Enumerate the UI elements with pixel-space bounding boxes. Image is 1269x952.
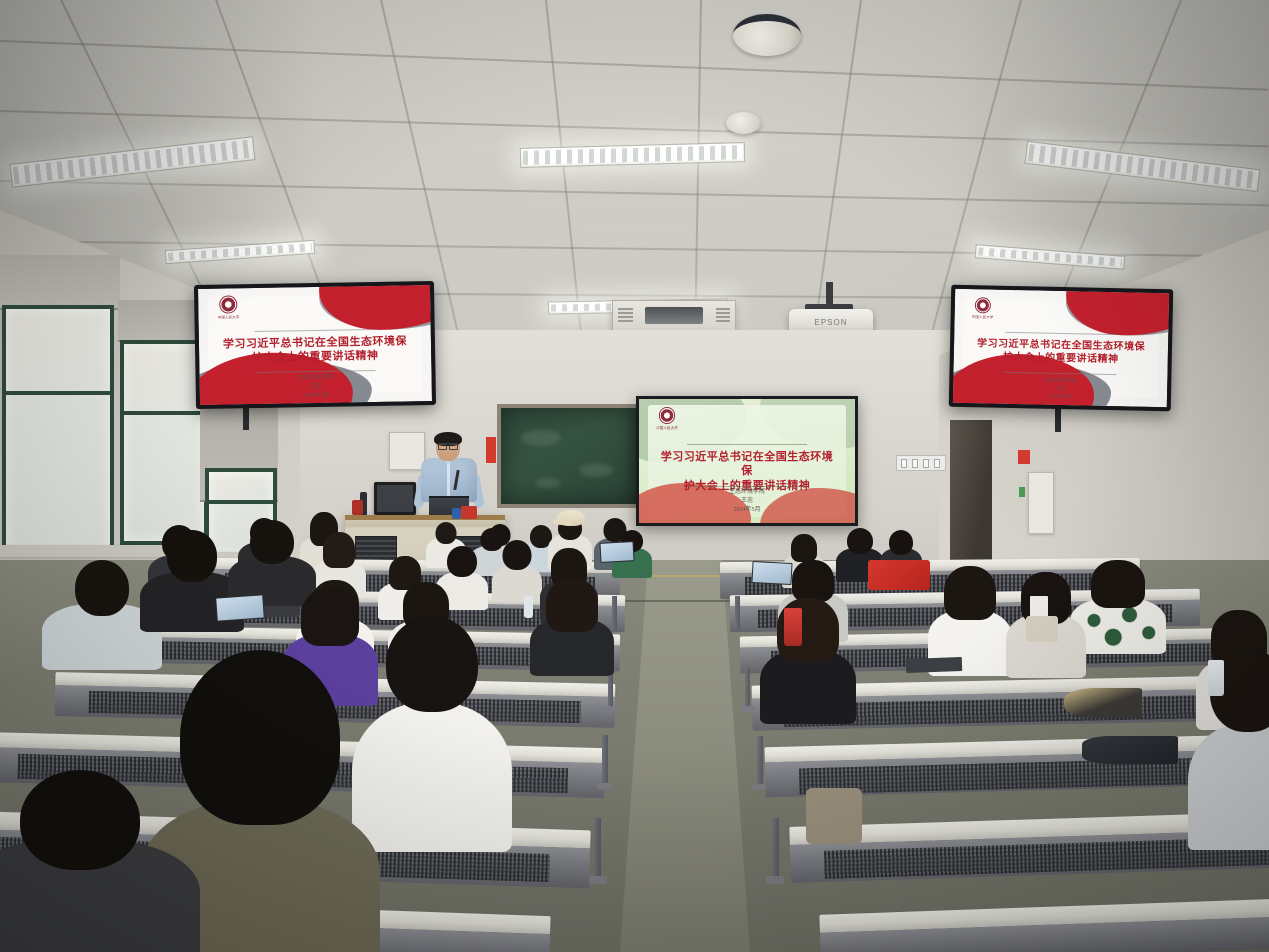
laptop[interactable] <box>751 561 792 585</box>
university-emblem-icon <box>974 297 991 314</box>
aisle-step-edge <box>620 600 740 602</box>
student-seat <box>530 578 614 674</box>
projection-slide: 中国人民大学 学习习近平总书记在全国生态环境保 护大会上的重要讲话精神 生态环境… <box>639 399 855 523</box>
red-thermos[interactable] <box>784 608 802 646</box>
desk-leg <box>735 596 740 630</box>
backpack <box>806 788 862 844</box>
university-emblem-icon <box>219 296 237 314</box>
laptop-sleeve <box>1064 688 1142 718</box>
university-name-label: 中国人民大学 <box>656 425 678 430</box>
red-jacket <box>868 560 930 590</box>
laptop[interactable] <box>215 594 265 621</box>
desk-foot <box>589 876 607 884</box>
university-logo: 中国人民大学 <box>210 295 248 321</box>
laptop[interactable] <box>599 541 634 563</box>
university-logo: 中国人民大学 <box>965 296 1000 322</box>
paper-cup[interactable] <box>1030 596 1048 618</box>
window-left-1 <box>2 305 114 555</box>
wall-sign-left <box>486 437 496 463</box>
slide-sub-line1: 生态环境学院 <box>639 488 855 497</box>
desk-foot <box>597 783 611 789</box>
laptop[interactable] <box>906 657 962 673</box>
projection-screen: 中国人民大学 学习习近平总书记在全国生态环境保 护大会上的重要讲话精神 生态环境… <box>636 396 858 526</box>
desk-foot <box>766 876 784 884</box>
podium-blue-box <box>452 508 461 519</box>
laptop-sleeve <box>1082 736 1178 764</box>
desk-leg <box>772 818 779 880</box>
student-foreground-far-left <box>0 770 200 952</box>
wall-notice-board <box>1028 472 1054 534</box>
exit-sign <box>1019 487 1025 497</box>
desk-marker-cup <box>352 500 363 515</box>
desk-foot <box>604 706 618 712</box>
fire-notice-sign <box>1018 450 1030 464</box>
green-chalkboard <box>497 404 642 508</box>
university-name-label: 中国人民大学 <box>972 315 994 321</box>
tv-mount-arm-right <box>1055 408 1061 432</box>
classroom-door[interactable] <box>950 420 992 580</box>
slide-sub-line2: 王忠 <box>639 497 855 506</box>
baseball-cap <box>557 510 585 526</box>
desk-leg <box>602 735 608 787</box>
right-tv-slide: 中国人民大学 学习习近平总书记在全国生态环境保 护大会上的重要讲话精神 生态环境… <box>953 289 1169 407</box>
desk-leg <box>594 818 601 880</box>
tote-bag <box>1026 616 1058 642</box>
student-right-denim <box>1188 648 1269 848</box>
water-bottle[interactable] <box>1208 660 1224 696</box>
window-blind[interactable] <box>0 255 120 310</box>
desk-foot <box>741 706 755 712</box>
desk-foot <box>752 784 766 790</box>
podium-red-box <box>461 506 477 519</box>
student-seat <box>760 598 856 722</box>
right-tv-display[interactable]: 中国人民大学 学习习近平总书记在全国生态环境保 护大会上的重要讲话精神 生态环境… <box>949 285 1174 412</box>
desk-leg <box>757 736 763 788</box>
glasses-icon <box>438 443 458 447</box>
university-logo: 中国人民大学 <box>650 405 685 432</box>
water-bottle[interactable] <box>524 596 533 618</box>
slide-title-line1: 学习习近平总书记在全国生态环境保 <box>656 450 837 479</box>
light-switch-panel[interactable] <box>896 455 946 471</box>
lecture-hall-photo: EPSON 中国 <box>0 0 1269 952</box>
slide-sub-line3: 2024年5月 <box>639 506 855 515</box>
podium-monitor <box>374 482 416 515</box>
university-name-label: 中国人民大学 <box>218 315 240 321</box>
left-tv-slide: 中国人民大学 学习习近平总书记在全国生态环境保 护大会上的重要讲话精神 生态环境… <box>198 285 432 405</box>
left-tv-display[interactable]: 中国人民大学 学习习近平总书记在全国生态环境保 护大会上的重要讲话精神 生态环境… <box>194 281 436 409</box>
university-emblem-icon <box>659 407 676 424</box>
